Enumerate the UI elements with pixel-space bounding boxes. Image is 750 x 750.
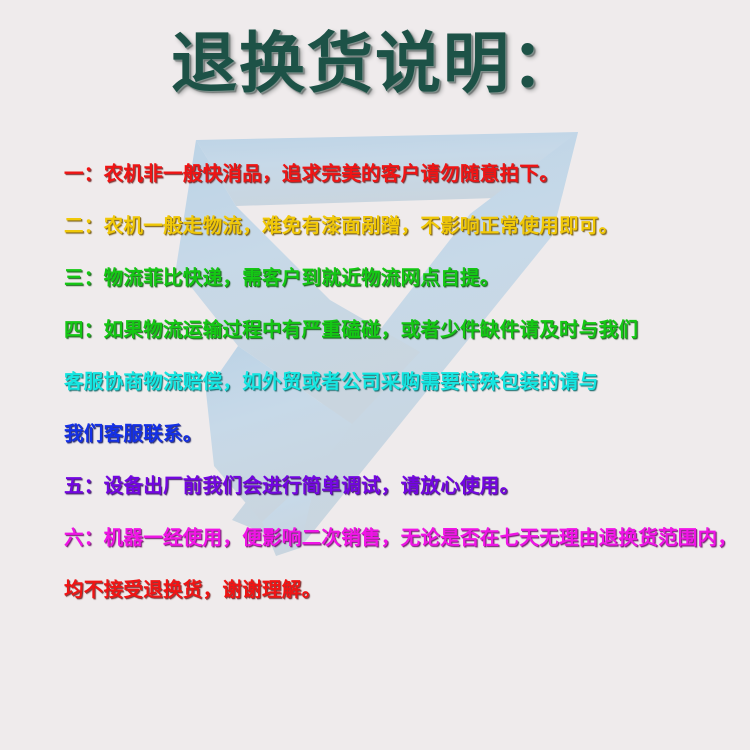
policy-line-list: 一：农机非一般快消品，追求完美的客户请勿随意拍下。 二：农机一般走物流，难免有漆…	[64, 148, 744, 616]
policy-line-4: 四：如果物流运输过程中有严重磕碰，或者少件缺件请及时与我们	[64, 304, 744, 356]
policy-line-3: 三：物流菲比快递，需客户到就近物流网点自提。	[64, 252, 744, 304]
policy-line-2: 二：农机一般走物流，难免有漆面剐蹭，不影响正常使用即可。	[64, 200, 744, 252]
page-title: 退换货说明：	[0, 26, 750, 102]
policy-line-4b: 客服协商物流赔偿，如外贸或者公司采购需要特殊包装的请与	[64, 356, 744, 408]
policy-line-1: 一：农机非一般快消品，追求完美的客户请勿随意拍下。	[64, 148, 744, 200]
policy-line-4c: 我们客服联系。	[64, 408, 744, 460]
return-policy-poster: 退换货说明： 一：农机非一般快消品，追求完美的客户请勿随意拍下。 二：农机一般走…	[0, 0, 750, 750]
policy-line-6b: 均不接受退换货，谢谢理解。	[64, 564, 744, 616]
policy-line-5: 五：设备出厂前我们会进行简单调试，请放心使用。	[64, 460, 744, 512]
policy-line-6: 六：机器一经使用，便影响二次销售，无论是否在七天无理由退换货范围内，	[64, 512, 744, 564]
